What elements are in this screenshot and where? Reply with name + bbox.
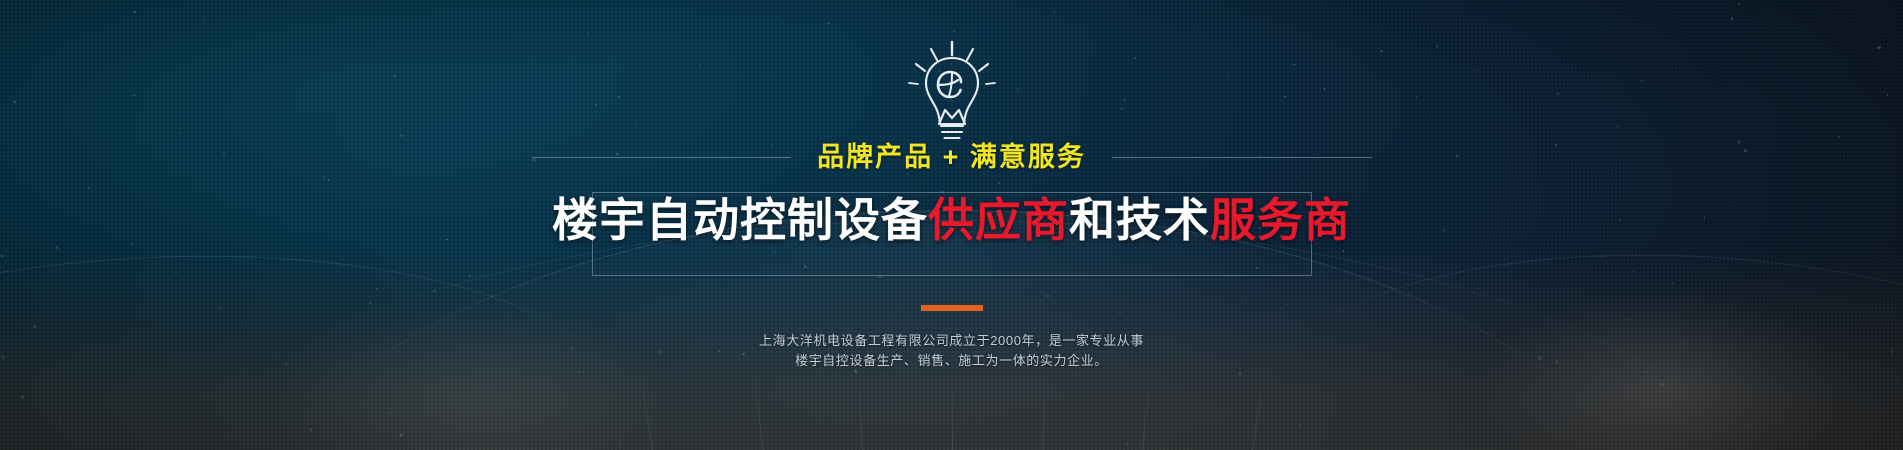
tagline-row: 品牌产品 + 满意服务 <box>532 144 1372 171</box>
headline-segment-2: 供应商 <box>928 194 1069 246</box>
globe-meridian <box>952 370 953 450</box>
tagline-text: 品牌产品 + 满意服务 <box>817 144 1086 171</box>
description-line-1: 上海大洋机电设备工程有限公司成立于2000年，是一家专业从事 <box>602 331 1302 351</box>
headline-segment-4: 服务商 <box>1210 194 1351 246</box>
headline: 楼宇自动控制设备供应商和技术服务商 <box>552 196 1351 244</box>
headline-segment-1: 楼宇自动控制设备 <box>552 194 928 246</box>
headline-segment-3: 和技术 <box>1069 194 1210 246</box>
lightbulb-idea-icon <box>897 38 1007 146</box>
tagline-rule-right <box>1112 157 1372 158</box>
hero-banner: 品牌产品 + 满意服务 楼宇自动控制设备供应商和技术服务商 上海大洋机电设备工程… <box>0 0 1903 450</box>
tagline-rule-left <box>532 157 792 158</box>
orange-divider <box>921 305 983 311</box>
description: 上海大洋机电设备工程有限公司成立于2000年，是一家专业从事 楼宇自控设备生产、… <box>602 331 1302 371</box>
description-line-2: 楼宇自控设备生产、销售、施工为一体的实力企业。 <box>602 351 1302 371</box>
